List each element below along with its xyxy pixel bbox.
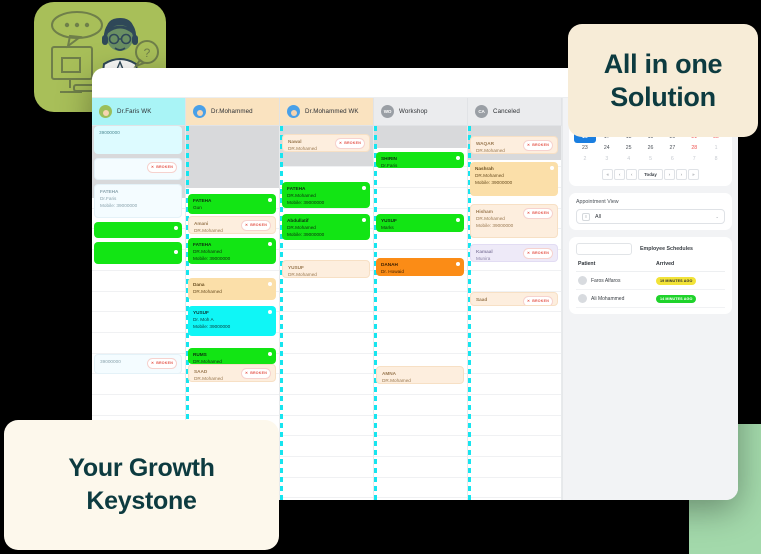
promo-growth-text: Your Growth Keystone [68,452,214,518]
appointment-patient-name: YUSUF [381,217,459,224]
status-dot-icon [550,166,554,170]
appointment-card[interactable]: AbdullatifDR.MohamedMobile: 39000000 [282,214,370,240]
appointment-doctor: Dr. Howaid [381,268,459,275]
appointment-patient-name: RUMS [193,351,271,358]
mini-calendar-nav[interactable]: «‹‹Today››» [574,169,727,180]
appointment-patient-name: SHIRIN [381,155,459,162]
status-badge: 14 MINUTES AGO [656,295,696,303]
status-dot-icon [362,218,366,222]
table-row[interactable]: Ali Mohammed14 MINUTES AGO [576,290,725,308]
today-button[interactable]: Today [638,169,663,180]
time-slot[interactable] [468,333,561,354]
broken-label: BROKEN [532,142,549,149]
status-dot-icon [268,198,272,202]
time-slot[interactable] [468,436,561,457]
appointment-card[interactable]: YUSUFDr. Moh AMobile: 39000000 [188,306,276,336]
close-icon: ✕ [527,142,530,149]
promo-card-all-in-one: All in one Solution [568,24,758,137]
appointment-mobile: Mobile: 39000000 [287,231,365,238]
broken-label: BROKEN [250,370,267,377]
status-dot-icon [174,250,178,254]
close-icon: ✕ [151,360,154,367]
status-dot-icon [174,226,178,230]
close-icon: ✕ [151,164,154,171]
broken-label: BROKEN [156,164,173,171]
mini-calendar-day[interactable]: 5 [640,154,662,165]
appointment-patient-name: Abdullatif [287,217,365,224]
appointment-doctor: DR.Mohamed [288,271,364,278]
appointment-card[interactable]: YUSUFMarks [376,214,464,232]
chevron-down-icon: ⌄ [715,214,719,219]
time-slot[interactable] [280,416,373,437]
calendar-column-header-2[interactable]: Dr.Mohammed WK [280,98,374,125]
mini-calendar-day[interactable]: 7 [683,154,705,165]
broken-label: BROKEN [344,140,361,147]
appointment-patient-name: FATEHA [193,197,271,204]
status-badge: 19 MINUTES AGO [656,277,696,285]
calendar-column-label: Dr.Faris WK [117,108,151,115]
appointment-view-card: Appointment View ≡ All ⌄ [569,193,732,230]
time-slot[interactable] [374,436,467,457]
time-marker-strip [280,126,283,500]
appointment-doctor: DR.Mohamed [287,192,365,199]
broken-badge: ✕BROKEN [523,296,553,306]
status-dot-icon [268,310,272,314]
close-icon: ✕ [245,370,248,377]
time-slot[interactable] [92,395,185,416]
appointment-mobile: Mobile: 39000000 [100,202,176,209]
avatar [193,105,206,118]
close-icon: ✕ [245,222,248,229]
mini-calendar-day[interactable]: 4 [618,154,640,165]
appointment-card[interactable]: 39000000✕BROKEN [94,354,182,374]
broken-label: BROKEN [532,210,549,217]
promo-card-growth: Your Growth Keystone [4,420,279,550]
broken-badge: ✕BROKEN [241,220,271,231]
appointment-card[interactable] [94,222,182,238]
status-dot-icon [362,186,366,190]
status-dot-icon [268,242,272,246]
mini-calendar-day[interactable]: 25 [618,143,640,154]
appointment-patient-name: FATEHA [100,188,176,195]
close-icon: ✕ [339,140,342,147]
appointment-patient-name: AMNA [382,370,458,377]
appointment-mobile: 39000000 [99,129,177,136]
calendar-column-4[interactable]: SHIRINDr.FarisYUSUFMarksDANAHDr. HowaidA… [374,126,468,500]
avatar: CA [475,105,488,118]
appointment-patient-name: YUSUF [193,309,271,316]
calendar-column-label: Workshop [399,108,428,115]
calendar-column-header-1[interactable]: Dr.Mohammed [186,98,280,125]
appointment-card[interactable]: WAQARDR.Mohamed✕BROKEN [470,136,558,154]
mini-calendar-day[interactable]: 2 [574,154,596,165]
appointment-card[interactable]: FATEHADR.MohamedMobile: 39000000 [282,182,370,208]
unavailable-overlay [186,126,279,188]
appointment-card[interactable]: NawalDR.Mohamed✕BROKEN [282,134,370,152]
broken-badge: ✕BROKEN [523,208,553,219]
patient-name: Ali Mohammed [591,296,624,302]
broken-badge: ✕BROKEN [335,138,365,149]
broken-badge: ✕BROKEN [147,162,177,173]
appointment-card[interactable]: SAADDR.Mohamed✕BROKEN [188,364,276,382]
employee-schedules-card: Employee Schedules Patient Arrived Faros… [569,237,732,314]
appointment-card[interactable]: ✕BROKEN [94,158,182,180]
time-slot[interactable] [374,292,467,313]
appointment-card[interactable]: SHIRINDr.Faris [376,152,464,168]
time-slot[interactable] [468,271,561,292]
calendar-nav-button-4[interactable]: › [664,169,675,180]
appointment-doctor: DR.Mohamed [287,224,365,231]
broken-badge: ✕BROKEN [147,358,177,369]
appointment-card[interactable]: 39000000 [94,126,182,154]
mini-calendar-day[interactable]: 8 [705,154,727,165]
appointment-doctor: DR.Mohamed [193,248,271,255]
time-slot[interactable] [280,395,373,416]
sidebar-pane: 2345678910111213141516171819202122232425… [562,98,738,500]
time-slot[interactable] [374,395,467,416]
calendar-column-label: Dr.Mohammed [211,108,253,115]
broken-badge: ✕BROKEN [523,140,553,151]
time-slot[interactable] [374,457,467,478]
schedules-table-header: Patient Arrived [576,261,725,272]
appointment-card[interactable]: DANAHDr. Howaid [376,258,464,276]
time-slot[interactable] [468,478,561,499]
calendar-column-header-0[interactable]: Dr.Faris WK [92,98,186,125]
time-slot[interactable] [374,478,467,499]
patient-cell: Ali Mohammed [578,294,656,303]
time-slot[interactable] [92,312,185,333]
time-slot[interactable] [186,395,279,416]
appointment-card[interactable]: Saad✕BROKEN [470,292,558,306]
broken-label: BROKEN [156,360,173,367]
appointment-card[interactable]: DanaDR.Mohamed [188,278,276,300]
employee-schedules-header: Employee Schedules [576,243,725,255]
appointment-patient-name: FATEHA [193,241,271,248]
calendar-column-label: Dr.Mohammed WK [305,108,359,115]
time-slot[interactable] [374,312,467,333]
mini-calendar-day[interactable]: 26 [640,143,662,154]
time-slot[interactable] [374,416,467,437]
calendar-column-5[interactable]: WAQARDR.Mohamed✕BROKENNashrahDR.MohamedM… [468,126,562,500]
appointment-view-select[interactable]: ≡ All ⌄ [576,209,725,224]
promo-all-in-one-text: All in one Solution [604,48,723,114]
time-slot[interactable] [92,374,185,395]
mini-calendar-day[interactable]: 6 [661,154,683,165]
time-slot[interactable] [468,312,561,333]
avatar [99,105,112,118]
calendar-nav-button-5[interactable]: › [676,169,687,180]
appointment-doctor: Gun [193,204,271,211]
avatar [578,294,587,303]
status-dot-icon [268,352,272,356]
appointment-card[interactable]: NashrahDR.MohamedMobile: 39000000 [470,162,558,196]
appointment-doctor: Dr. Moh A [193,316,271,323]
appointment-doctor: Dr.Faris [381,162,459,168]
mini-calendar-day[interactable]: 3 [596,154,618,165]
appointment-card[interactable]: AmaniDR.Mohamed✕BROKEN [188,216,276,234]
calendar-column-label: Canceled [493,108,520,115]
broken-badge: ✕BROKEN [241,368,271,379]
calendar-column-headers: Dr.Faris WKDr.MohammedDr.Mohammed WKWOWo… [92,98,562,126]
appointment-doctor: DR.Mohamed [193,288,271,295]
mini-calendar-week: 2345678 [574,154,727,165]
unavailable-overlay [374,126,467,148]
mini-calendar-week: 2324252627281 [574,143,727,154]
appointment-mobile: Mobile: 39000000 [475,179,553,186]
appointment-view-label: Appointment View [576,199,725,205]
broken-label: BROKEN [250,222,267,229]
appointment-card[interactable]: KamaalMunira✕BROKEN [470,244,558,262]
avatar [287,105,300,118]
time-slot[interactable] [374,229,467,250]
time-slot[interactable] [92,333,185,354]
appointment-doctor: DR.Mohamed [382,377,458,384]
appointment-card[interactable]: FATEHADR.MohamedMobile: 39000000 [188,238,276,264]
time-slot[interactable] [280,478,373,499]
appointment-card[interactable]: FATEHADr.FarisMobile: 39000000 [94,184,182,218]
appointment-card[interactable]: HishamDR.MohamedMobile: 39000000✕BROKEN [470,204,558,238]
time-slot[interactable] [374,167,467,188]
mini-calendar-day[interactable]: 28 [683,143,705,154]
time-slot[interactable] [280,354,373,375]
calendar-nav-button-2[interactable]: ‹ [626,169,637,180]
appointment-mobile: Mobile: 39000000 [193,255,271,262]
page-root: ? Dr.Faris WKDr.MohammedDr.Mohammed WKWO… [0,0,761,554]
appointment-patient-name: DANAH [381,261,459,268]
appointment-doctor: DR.Mohamed [475,172,553,179]
appointment-doctor: Dr.Faris [100,195,176,202]
time-slot[interactable] [280,436,373,457]
schedules-table-body: Faros Alfaros19 MINUTES AGOAli Mohammed1… [576,272,725,308]
appointment-card[interactable]: RUMSDR.Mohamed [188,348,276,364]
appointment-doctor: Marks [381,224,459,231]
mini-calendar-day[interactable]: 24 [596,143,618,154]
time-slot[interactable] [280,457,373,478]
time-marker-strip [374,126,377,500]
svg-text:?: ? [144,46,151,60]
patient-name: Faros Alfaros [591,278,620,284]
appointment-mobile: Mobile: 39000000 [287,199,365,206]
broken-badge: ✕BROKEN [523,248,553,259]
list-icon: ≡ [582,213,590,221]
status-dot-icon [268,282,272,286]
calendar-nav-button-1[interactable]: ‹ [614,169,625,180]
table-row[interactable]: Faros Alfaros19 MINUTES AGO [576,272,725,290]
close-icon: ✕ [527,298,530,305]
mini-calendar-day[interactable]: 1 [705,143,727,154]
time-slot[interactable] [374,188,467,209]
appointment-mobile: Mobile: 39000000 [193,323,271,330]
time-slot[interactable] [280,374,373,395]
employee-schedules-title: Employee Schedules [640,246,693,252]
time-slot[interactable] [468,457,561,478]
time-slot[interactable] [92,271,185,292]
calendar-column-3[interactable]: NawalDR.Mohamed✕BROKENFATEHADR.MohamedMo… [280,126,374,500]
broken-label: BROKEN [532,250,549,257]
appointment-view-value: All [595,214,601,220]
calendar-nav-button-6[interactable]: » [688,169,699,180]
appointment-patient-name: Nashrah [475,165,553,172]
appointment-patient-name: FATEHA [287,185,365,192]
appointment-card[interactable] [94,246,182,264]
avatar: WO [381,105,394,118]
time-slot[interactable] [280,312,373,333]
avatar [578,276,587,285]
broken-label: BROKEN [532,298,549,305]
time-slot[interactable] [468,374,561,395]
appointment-patient-name: YUSUF [288,264,364,271]
status-dot-icon [456,156,460,160]
status-dot-icon [456,262,460,266]
time-slot[interactable] [468,395,561,416]
patient-cell: Faros Alfaros [578,276,656,285]
time-slot[interactable] [468,354,561,375]
calendar-column-header-4[interactable]: CACanceled [468,98,562,125]
status-dot-icon [456,218,460,222]
calendar-nav-button-0[interactable]: « [602,169,613,180]
close-icon: ✕ [527,250,530,257]
time-slot[interactable] [92,292,185,313]
appointment-mobile: Mobile: 39000000 [476,222,552,229]
close-icon: ✕ [527,210,530,217]
column-header-patient: Patient [578,261,656,267]
appointment-patient-name: Dana [193,281,271,288]
appointment-card[interactable]: AMNADR.Mohamed [376,366,464,384]
mini-calendar-day[interactable]: 23 [574,143,596,154]
appointment-card[interactable]: FATEHAGun [188,194,276,214]
time-slot[interactable] [280,292,373,313]
time-slot[interactable] [374,333,467,354]
time-slot[interactable] [468,416,561,437]
calendar-column-header-3[interactable]: WOWorkshop [374,98,468,125]
appointment-card[interactable]: YUSUFDR.Mohamed [282,260,370,278]
time-slot[interactable] [280,333,373,354]
employee-schedules-search-input[interactable] [576,243,632,255]
mini-calendar-day[interactable]: 27 [661,143,683,154]
column-header-arrived: Arrived [656,261,674,267]
